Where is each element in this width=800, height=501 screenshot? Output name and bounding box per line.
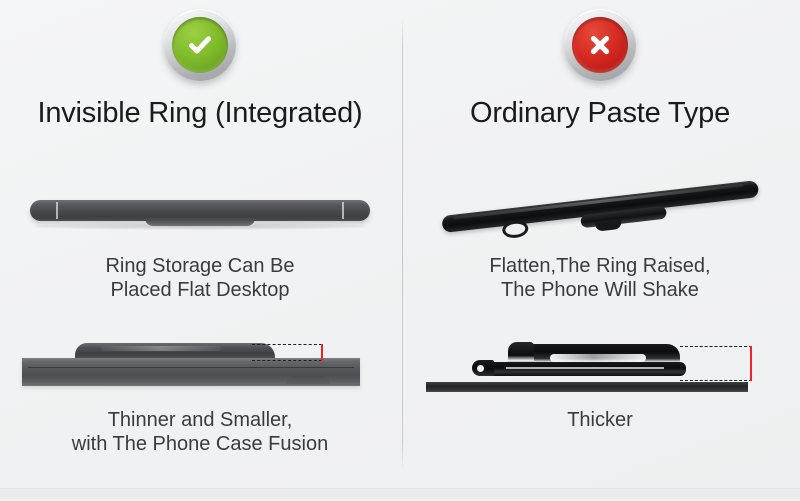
caption-flat-desktop: Ring Storage Can Be Placed Flat Desktop (0, 254, 400, 302)
image-case-cross-section-thin (0, 330, 400, 396)
caption-line-1: Thinner and Smaller, (0, 408, 400, 432)
caption-line-1: Thicker (400, 408, 800, 432)
badge-rejected (564, 9, 636, 81)
panel-flat-desktop: Ring Storage Can Be Placed Flat Desktop (0, 176, 400, 304)
panel-thin-profile: Thinner and Smaller, with The Phone Case… (0, 330, 400, 458)
ring-hole (505, 223, 526, 236)
phone-case-notch (286, 376, 330, 384)
caption-line-1: Ring Storage Can Be (0, 254, 400, 278)
ring-holder-highlight (550, 354, 646, 362)
phone-tilt-group (440, 170, 762, 256)
page-title-ordinary-paste: Ordinary Paste Type (400, 96, 800, 130)
ring-holder-clip (472, 360, 494, 376)
bottom-edge-band (0, 488, 800, 501)
comparison-page: Invisible Ring (Integrated) Ring Storage… (0, 0, 800, 501)
measurement-dash-top (252, 344, 322, 345)
column-divider (402, 18, 403, 470)
caption-line-2: The Phone Will Shake (400, 278, 800, 302)
caption-line-1: Flatten,The Ring Raised, (400, 254, 800, 278)
thickness-indicator-bar (321, 344, 323, 361)
caption-line-2: Placed Flat Desktop (0, 278, 400, 302)
caption-phone-shakes: Flatten,The Ring Raised, The Phone Will … (400, 254, 800, 302)
column-invisible-ring: Invisible Ring (Integrated) Ring Storage… (0, 0, 400, 501)
page-title-invisible-ring: Invisible Ring (Integrated) (0, 96, 400, 130)
image-phone-tilted-raised-ring (400, 176, 800, 242)
measurement-dash-top (680, 346, 752, 347)
measurement-dash-bottom (680, 380, 752, 381)
caption-line-2: with The Phone Case Fusion (0, 432, 400, 456)
badge-rejected-wrap (400, 9, 800, 81)
image-phone-lying-flat (0, 176, 400, 242)
check-icon (172, 17, 228, 73)
column-ordinary-paste: Ordinary Paste Type Flatten,The Ring Rai… (400, 0, 800, 501)
phone-base-lip (145, 218, 255, 226)
image-ring-holder-cross-section-thick (400, 330, 800, 396)
caption-thin-profile: Thinner and Smaller, with The Phone Case… (0, 408, 400, 456)
panel-thick-profile: Thicker (400, 330, 800, 458)
comparison-columns: Invisible Ring (Integrated) Ring Storage… (0, 0, 800, 501)
panel-phone-shakes: Flatten,The Ring Raised, The Phone Will … (400, 176, 800, 304)
measurement-dash-bottom (252, 360, 322, 361)
caption-thick-profile: Thicker (400, 408, 800, 432)
badge-approved (164, 9, 236, 81)
ring-holder-base-plate (480, 362, 686, 376)
badge-approved-wrap (0, 9, 400, 81)
thickness-indicator-bar (750, 346, 752, 381)
desk-surface (426, 382, 748, 392)
cross-icon (572, 17, 628, 73)
